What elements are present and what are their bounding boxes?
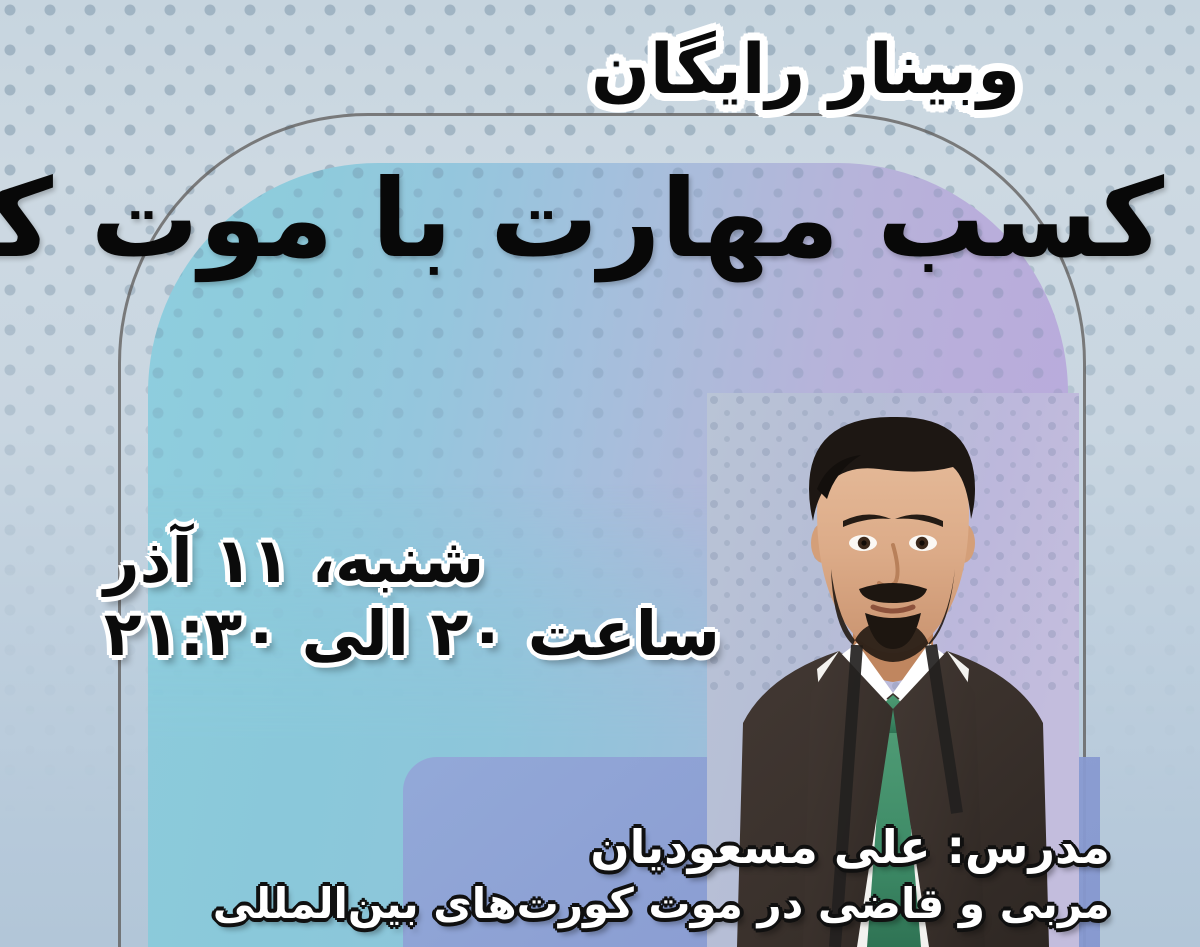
speaker-role: مربی و قاضی در موت کورت‌های بین‌المللی xyxy=(213,879,1110,929)
schedule-block: شنبه، ۱۱ آذر ساعت ۲۰ الی ۲۱:۳۰ xyxy=(104,528,720,668)
webinar-poster: وبینار رایگان کسب مهارت با موت کورت شنبه… xyxy=(0,0,1200,947)
event-time: ساعت ۲۰ الی ۲۱:۳۰ xyxy=(104,601,720,668)
poster-headline: کسب مهارت با موت کورت xyxy=(36,166,1164,274)
speaker-block: مدرس: علی مسعودیان مربی و قاضی در موت کو… xyxy=(213,821,1110,929)
speaker-name: مدرس: علی مسعودیان xyxy=(213,821,1110,874)
event-date: شنبه، ۱۱ آذر xyxy=(104,528,720,595)
free-webinar-badge: وبینار رایگان xyxy=(591,36,1020,105)
